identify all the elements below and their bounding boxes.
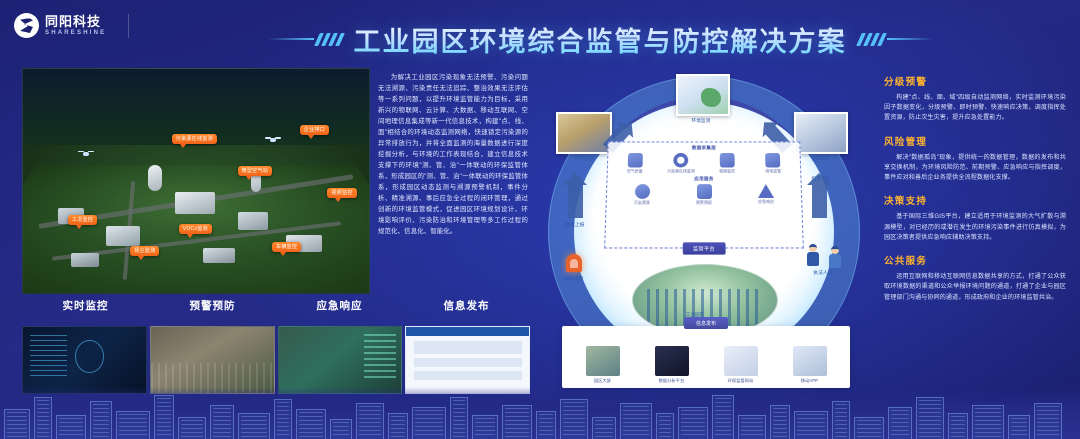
title-deco-right-icon — [859, 33, 933, 46]
brand-logo: 同阳科技 SHARESHINE — [14, 13, 106, 38]
poster-canvas: 同阳科技 SHARESHINE 工业园区环境综合监管与防控解决方案 — [0, 0, 1080, 439]
scene-tag-label: 工况监控 — [68, 215, 97, 225]
thumbnail-website[interactable] — [405, 326, 530, 394]
inset-command-dispatch[interactable] — [794, 112, 848, 154]
inset-field-enforcement[interactable] — [556, 112, 612, 154]
scene-tag[interactable]: 企业排口 — [300, 118, 329, 136]
hub-item-source-monitoring[interactable]: 污染源在线监测 — [661, 153, 701, 174]
hub-row-services: 污染溯源 预警预报 应急响应 — [607, 182, 802, 206]
forecast-icon — [696, 184, 711, 199]
hub-item-emergency[interactable]: 应急响应 — [746, 184, 786, 205]
scene-tag-label: 视频监控 — [327, 188, 356, 198]
hub-item-label: 应急响应 — [746, 199, 786, 205]
thumbnail-website-row — [414, 371, 522, 380]
thumbnail-dispersion[interactable] — [278, 326, 403, 394]
platform-hub: 数据采集层 空气质量 污染源在线监测 视频监控 用电监管 — [604, 142, 804, 249]
caption-early-warning: 预警预防 — [149, 298, 276, 320]
scene-building — [238, 212, 268, 230]
park-3d-scene: 污染源在线监测 企业排口 微型空气站 工况监控 VOCs监测 扬尘监测 车辆监控… — [22, 68, 370, 294]
sidebar-body: 解决"数据孤岛"现象，提供统一的数据管理，数据的发布和共享交换机制，为环境风险防… — [884, 153, 1066, 184]
officer-avatar — [828, 246, 841, 268]
scene-tag[interactable]: 工况监控 — [68, 208, 97, 226]
sidebar-block-public-service: 公共服务 运用互联网和移动互联网信息数据共享的方式，打通了公众获取环境数据的渠道… — [884, 253, 1066, 303]
sidebar-body: 构建"点、线、面、域"四级自动监测网络，实时监测环境污染因子数据变化，分级预警、… — [884, 93, 1066, 124]
thumbnail-dashboard[interactable] — [22, 326, 147, 394]
sidebar-body: 基于国际三维GIS平台，建立适用于环境监测的大气扩散与溯源模型，对已经历的或潜在… — [884, 212, 1066, 243]
inset-environment-monitoring[interactable] — [676, 74, 730, 116]
sidebar-block-grading-warning: 分级预警 构建"点、线、面、域"四级自动监测网络，实时监测环境污染因子数据变化，… — [884, 74, 1066, 124]
release-item-website[interactable]: 环保监管网站 — [712, 346, 770, 384]
scene-tag[interactable]: 微型空气站 — [238, 159, 273, 177]
release-item-app[interactable]: 移动APP — [781, 346, 839, 384]
analytics-icon — [655, 346, 689, 376]
scene-tag-label: 微型空气站 — [238, 166, 273, 176]
hub-section-2-title: 应用服务 — [607, 174, 800, 182]
header-bar: 同阳科技 SHARESHINE 工业园区环境综合监管与防控解决方案 — [0, 0, 1080, 66]
hub-item-label: 视频监控 — [707, 168, 747, 174]
person-label: 执法人员 — [788, 270, 858, 276]
info-release-badge: 信息发布 — [684, 317, 728, 329]
header-divider — [128, 14, 129, 38]
layers-icon — [765, 153, 780, 168]
sidebar-title: 风险管理 — [884, 134, 1066, 148]
scene-building — [71, 253, 99, 267]
data-upload-arrow-icon — [568, 184, 583, 218]
logo-text: 同阳科技 SHARESHINE — [45, 15, 106, 37]
scene-tag[interactable]: 污染源在线监测 — [172, 127, 217, 145]
release-item-analytics[interactable]: 数据分析平台 — [643, 346, 701, 384]
hub-item-label: 空气质量 — [615, 168, 655, 174]
logo-mark-icon — [14, 13, 39, 38]
hub-item-label: 污染溯源 — [622, 200, 662, 206]
hub-item-label: 污染源在线监测 — [661, 168, 701, 174]
release-item-screen[interactable]: 园区大屏 — [574, 346, 632, 384]
sidebar-title: 决策支持 — [884, 193, 1066, 207]
command-arrow-icon — [812, 184, 827, 218]
hub-item-label: 用电监管 — [753, 168, 793, 174]
intro-paragraph: 为解决工业园区污染现象无法预警、污染问题无法溯源、污染责任无法追踪、整治效果无法… — [378, 72, 528, 294]
sidebar-title: 分级预警 — [884, 74, 1066, 88]
drone-icon — [78, 150, 94, 157]
feature-sidebar: 分级预警 构建"点、线、面、域"四级自动监测网络，实时监测环境污染因子数据变化，… — [884, 74, 1066, 404]
alarm-label: 超标报警 — [539, 276, 609, 282]
thumbnail-website-row — [414, 358, 522, 367]
thumbnail-3d-map[interactable] — [150, 326, 275, 394]
feature-captions: 实时监控 预警预防 应急响应 信息发布 — [22, 298, 530, 320]
hub-item-video[interactable]: 视频监控 — [707, 153, 747, 174]
city-skyline-decoration — [0, 387, 1080, 439]
logo-name-en: SHARESHINE — [45, 30, 106, 36]
thumbnail-website-header — [406, 327, 529, 336]
left-arrow-label: 数据上报 — [540, 222, 610, 228]
scene-tag[interactable]: VOCs监测 — [179, 217, 212, 235]
info-release-items: 园区大屏 数据分析平台 环保监管网站 移动APP — [562, 326, 850, 388]
scene-tag-label: VOCs监测 — [179, 224, 212, 234]
caption-info-release: 信息发布 — [403, 298, 530, 320]
website-icon — [724, 346, 758, 376]
page-title: 工业园区环境综合监管与防控解决方案 — [354, 20, 847, 59]
scene-tag-label: 污染源在线监测 — [172, 134, 217, 144]
scene-tag[interactable]: 车辆监控 — [272, 235, 301, 253]
sidebar-title: 公共服务 — [884, 253, 1066, 267]
caption-emergency-response: 应急响应 — [276, 298, 403, 320]
sidebar-body: 运用互联网和移动互联网信息数据共享的方式，打通了公众获取环境数据的渠道和公众举报… — [884, 272, 1066, 303]
officer-avatar — [806, 244, 819, 266]
sidebar-block-risk-management: 风险管理 解决"数据孤岛"现象，提供统一的数据管理，数据的发布和共享交换机制，为… — [884, 134, 1066, 184]
hub-row-collection: 空气质量 污染源在线监测 视频监控 用电监管 — [608, 151, 801, 174]
tracing-icon — [634, 184, 649, 199]
sidebar-block-decision-support: 决策支持 基于国际三维GIS平台，建立适用于环境监测的大气扩散与溯源模型，对已经… — [884, 193, 1066, 243]
logo-name-cn: 同阳科技 — [45, 15, 106, 29]
scene-tank — [148, 165, 162, 191]
hub-item-power-monitor[interactable]: 用电监管 — [753, 153, 793, 174]
hub-item-air-quality[interactable]: 空气质量 — [615, 153, 655, 174]
video-camera-icon — [720, 153, 735, 168]
release-item-label: 移动APP — [781, 378, 839, 384]
emergency-icon — [758, 184, 774, 198]
inset-top-label: 环境监测 — [666, 118, 736, 124]
mobile-app-icon — [793, 346, 827, 376]
alarm-icon — [566, 254, 582, 272]
scene-tag-label: 企业排口 — [300, 125, 329, 135]
title-row: 工业园区环境综合监管与防控解决方案 — [150, 18, 1050, 60]
scene-building — [203, 248, 235, 263]
drone-icon — [265, 136, 281, 143]
scene-tag-label: 车辆监控 — [272, 242, 301, 252]
power-icon — [674, 153, 689, 168]
thumbnail-website-row — [414, 341, 522, 354]
scene-tag[interactable]: 扬尘监测 — [130, 239, 159, 257]
center-diagram: 环境监测 现场执法 指挥调度 数据上报 指令下达 超标报警 执法人员 数据采集层… — [540, 68, 890, 398]
platform-badge: 监管平台 — [683, 242, 725, 254]
hub-item-forecast[interactable]: 预警预报 — [684, 184, 724, 206]
caption-realtime-monitoring: 实时监控 — [22, 298, 149, 320]
hub-item-tracing[interactable]: 污染溯源 — [622, 184, 662, 206]
info-release-panel: 信息发布 园区大屏 数据分析平台 环保监管网站 移动APP — [562, 326, 850, 388]
release-item-label: 园区大屏 — [574, 378, 632, 384]
release-item-label: 环保监管网站 — [712, 378, 770, 384]
scene-tag-label: 扬尘监测 — [130, 246, 159, 256]
big-screen-icon — [586, 346, 620, 376]
hub-item-label: 预警预报 — [684, 200, 724, 206]
screenshot-strip — [22, 326, 530, 394]
hub-section-1-title: 数据采集层 — [608, 142, 799, 151]
scene-tag[interactable]: 视频监控 — [327, 181, 356, 199]
title-deco-left-icon — [268, 33, 342, 46]
release-item-label: 数据分析平台 — [643, 378, 701, 384]
air-quality-icon — [627, 153, 642, 168]
scene-building — [175, 192, 215, 214]
